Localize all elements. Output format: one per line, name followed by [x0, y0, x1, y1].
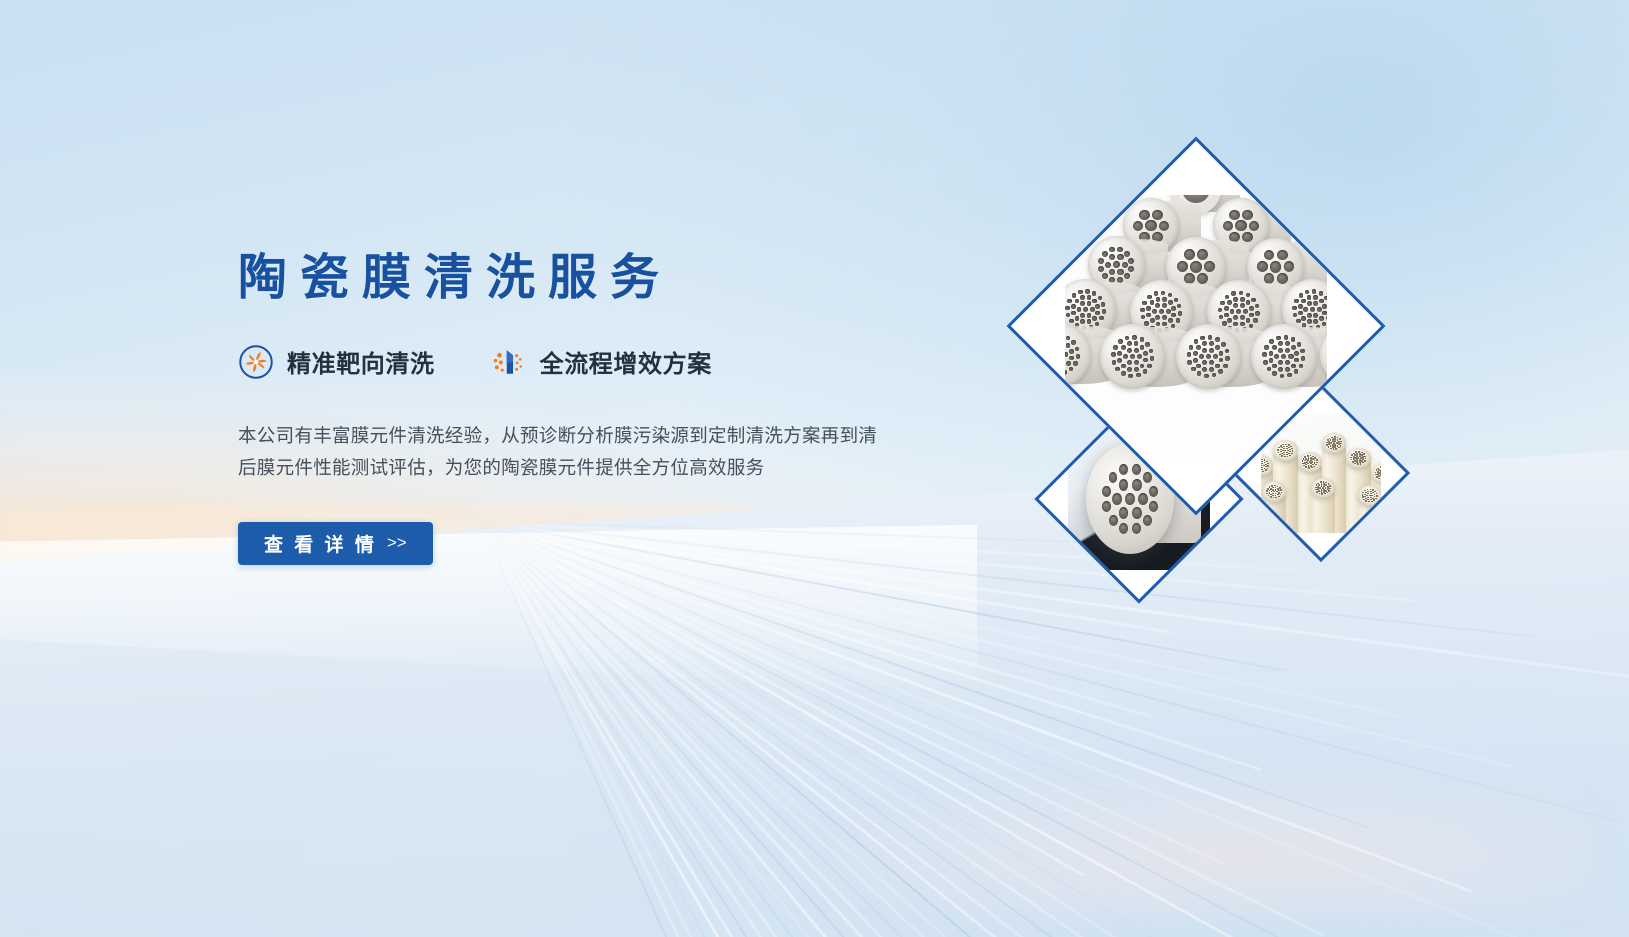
membrane-stack-scene	[1065, 195, 1327, 457]
hero-content: 陶瓷膜清洗服务	[238, 250, 938, 565]
hero-description: 本公司有丰富膜元件清洗经验，从预诊断分析膜污染源到定制清洗方案再到清 后膜元件性…	[238, 420, 898, 484]
view-details-button[interactable]: 查 看 详 情 >>	[238, 522, 433, 565]
pinwheel-icon	[238, 344, 274, 380]
flag-dots-icon	[491, 344, 527, 380]
background-ground-warm-tint	[815, 768, 1597, 918]
hero-banner: 陶瓷膜清洗服务	[0, 0, 1629, 937]
view-details-label: 查 看 详 情	[264, 530, 377, 557]
feature-item-targeted-cleaning: 精准靶向清洗	[238, 344, 435, 380]
feature-item-full-process-plan: 全流程增效方案	[491, 344, 712, 380]
feature-list: 精准靶向清洗	[238, 344, 938, 380]
page-title: 陶瓷膜清洗服务	[238, 250, 938, 308]
feature-label: 全流程增效方案	[540, 344, 712, 379]
description-line-1: 本公司有丰富膜元件清洗经验，从预诊断分析膜污染源到定制清洗方案再到清	[238, 420, 898, 452]
description-line-2: 后膜元件性能测试评估，为您的陶瓷膜元件提供全方位高效服务	[238, 452, 898, 484]
double-chevron-right-icon: >>	[387, 533, 407, 553]
feature-label: 精准靶向清洗	[287, 344, 435, 379]
diamond-image-cluster	[1010, 160, 1450, 640]
